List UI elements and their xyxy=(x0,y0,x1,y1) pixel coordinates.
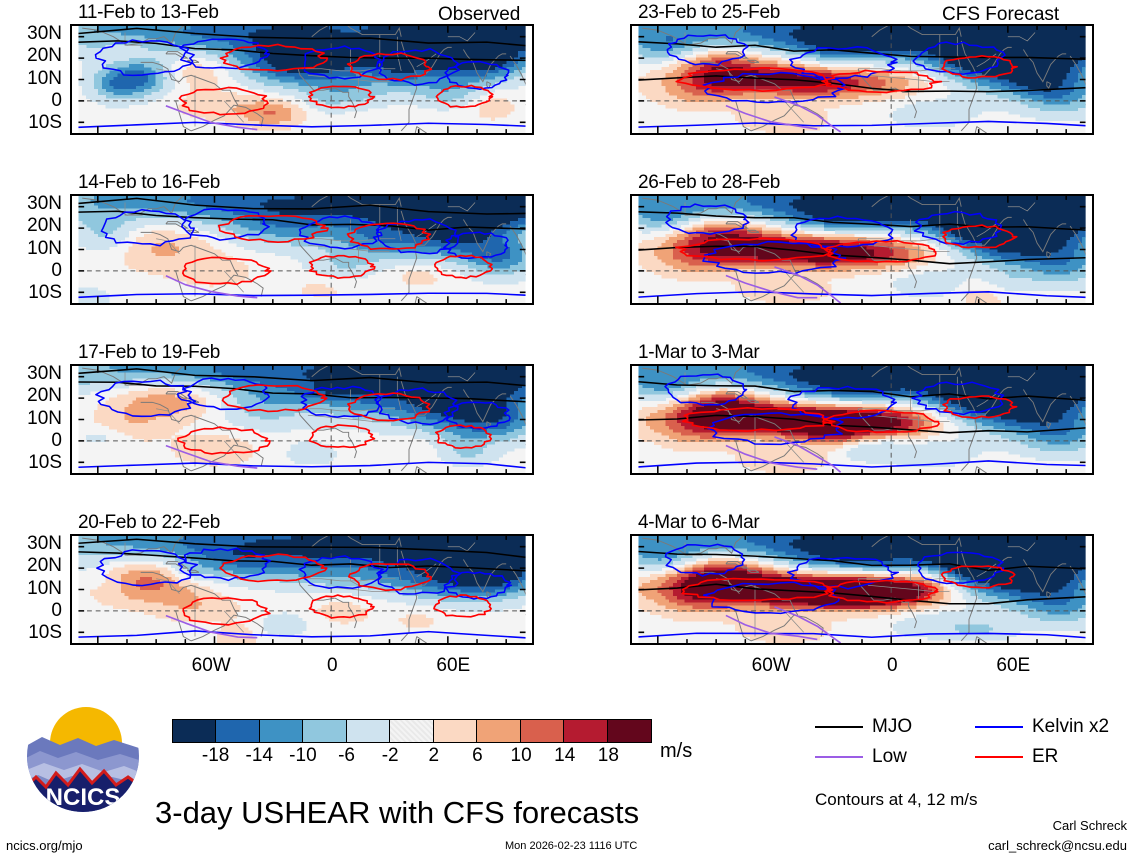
author-email[interactable]: carl_schreck@ncsu.edu xyxy=(988,838,1127,853)
colorbar-swatch-0 xyxy=(173,720,216,742)
colorbar-tick: 2 xyxy=(429,745,440,767)
map-2 xyxy=(70,194,534,305)
y-axis-label: 10N xyxy=(0,408,62,430)
colorbar-tick: 18 xyxy=(598,745,619,767)
logo-text: NCICS xyxy=(46,784,121,811)
legend-line-low xyxy=(815,756,863,758)
colorbar xyxy=(172,719,652,743)
panel-2 xyxy=(70,194,534,305)
colorbar-tick: -10 xyxy=(289,745,316,767)
y-axis-label: 0 xyxy=(0,90,62,112)
panel-title-7: 1-Mar to 3-Mar xyxy=(638,342,759,364)
legend-line-kelvin xyxy=(975,726,1023,728)
y-axis-label: 20N xyxy=(0,555,62,577)
colorbar-swatch-3 xyxy=(303,720,346,742)
panel-title-4: 20-Feb to 22-Feb xyxy=(78,512,220,534)
panel-title-1: 11-Feb to 13-Feb xyxy=(78,2,219,24)
y-axis-label: 10S xyxy=(0,112,62,134)
colorbar-swatch-7 xyxy=(477,720,520,742)
colorbar-tick-labels: -18-14-10-6-226101418 xyxy=(172,745,652,769)
panel-4 xyxy=(70,534,534,645)
y-axis-label: 10S xyxy=(0,282,62,304)
colorbar-tick: 14 xyxy=(554,745,575,767)
panel-6 xyxy=(630,194,1094,305)
y-axis-label: 10N xyxy=(0,68,62,90)
x-axis-label: 60E xyxy=(963,655,1063,677)
map-4 xyxy=(70,534,534,645)
map-1 xyxy=(70,24,534,135)
colorbar-swatch-6 xyxy=(434,720,477,742)
panel-title-8: 4-Mar to 6-Mar xyxy=(638,512,759,534)
y-axis-label: 10N xyxy=(0,578,62,600)
legend-label-kelvin: Kelvin x2 xyxy=(1032,716,1109,738)
legend-line-mjo xyxy=(815,726,863,728)
legend-label-er: ER xyxy=(1032,746,1058,768)
y-axis-label: 10S xyxy=(0,622,62,644)
legend-item-mjo: MJO xyxy=(815,716,975,738)
x-axis-label: 0 xyxy=(282,655,382,677)
panel-7 xyxy=(630,364,1094,475)
site-url[interactable]: ncics.org/mjo xyxy=(6,838,83,853)
contours-note: Contours at 4, 12 m/s xyxy=(815,790,978,810)
legend-label-low: Low xyxy=(872,746,907,768)
y-axis-label: 30N xyxy=(0,363,62,385)
colorbar-swatch-4 xyxy=(347,720,390,742)
y-axis-label: 20N xyxy=(0,385,62,407)
y-axis-label: 0 xyxy=(0,600,62,622)
colorbar-tick: -18 xyxy=(202,745,229,767)
y-axis-label: 10N xyxy=(0,238,62,260)
panel-5 xyxy=(630,24,1094,135)
legend-label-mjo: MJO xyxy=(872,716,912,738)
colorbar-swatch-5 xyxy=(390,720,433,742)
contour-legend: MJO Kelvin x2 Low ER xyxy=(815,712,1135,772)
legend-row-1: MJO Kelvin x2 xyxy=(815,712,1135,742)
legend-line-er xyxy=(975,756,1023,758)
x-axis-label: 0 xyxy=(842,655,942,677)
legend-row-2: Low ER xyxy=(815,742,1135,772)
map-5 xyxy=(630,24,1094,135)
map-8 xyxy=(630,534,1094,645)
colorbar-tick: -14 xyxy=(246,745,273,767)
column-header-observed: Observed xyxy=(438,4,520,26)
timestamp: Mon 2026-02-23 1116 UTC xyxy=(505,840,637,852)
legend-item-low: Low xyxy=(815,746,975,768)
panel-title-3: 17-Feb to 19-Feb xyxy=(78,342,220,364)
colorbar-tick: 10 xyxy=(511,745,532,767)
panel-title-2: 14-Feb to 16-Feb xyxy=(78,172,220,194)
main-title: 3-day USHEAR with CFS forecasts xyxy=(155,795,639,831)
figure-root: Observed CFS Forecast 11-Feb to 13-Feb30… xyxy=(0,0,1135,860)
shading-band-0 xyxy=(248,26,526,74)
ncics-logo: NCICS xyxy=(24,697,142,815)
y-axis-label: 20N xyxy=(0,215,62,237)
legend-item-kelvin: Kelvin x2 xyxy=(975,716,1135,738)
x-axis-label: 60W xyxy=(721,655,821,677)
map-7 xyxy=(630,364,1094,475)
y-axis-label: 30N xyxy=(0,533,62,555)
panel-1 xyxy=(70,24,534,135)
author-name: Carl Schreck xyxy=(1053,818,1127,833)
panel-3 xyxy=(70,364,534,475)
panel-8 xyxy=(630,534,1094,645)
legend-item-er: ER xyxy=(975,746,1135,768)
colorbar-swatch-9 xyxy=(564,720,607,742)
x-axis-label: 60E xyxy=(403,655,503,677)
colorbar-tick: 6 xyxy=(472,745,483,767)
shading-band-8 xyxy=(263,111,275,115)
map-6 xyxy=(630,194,1094,305)
map-3 xyxy=(70,364,534,475)
x-axis-label: 60W xyxy=(161,655,261,677)
colorbar-swatch-8 xyxy=(521,720,564,742)
y-axis-label: 30N xyxy=(0,23,62,45)
column-header-forecast: CFS Forecast xyxy=(942,4,1059,26)
y-axis-label: 30N xyxy=(0,193,62,215)
y-axis-label: 20N xyxy=(0,45,62,67)
y-axis-label: 0 xyxy=(0,260,62,282)
colorbar-swatch-1 xyxy=(216,720,259,742)
colorbar-swatch-2 xyxy=(260,720,303,742)
y-axis-label: 10S xyxy=(0,452,62,474)
y-axis-label: 0 xyxy=(0,430,62,452)
colorbar-units-label: m/s xyxy=(660,740,692,763)
panel-title-5: 23-Feb to 25-Feb xyxy=(638,2,780,24)
panel-title-6: 26-Feb to 28-Feb xyxy=(638,172,780,194)
colorbar-tick: -6 xyxy=(338,745,355,767)
colorbar-swatch-10 xyxy=(608,720,651,742)
colorbar-tick: -2 xyxy=(382,745,399,767)
